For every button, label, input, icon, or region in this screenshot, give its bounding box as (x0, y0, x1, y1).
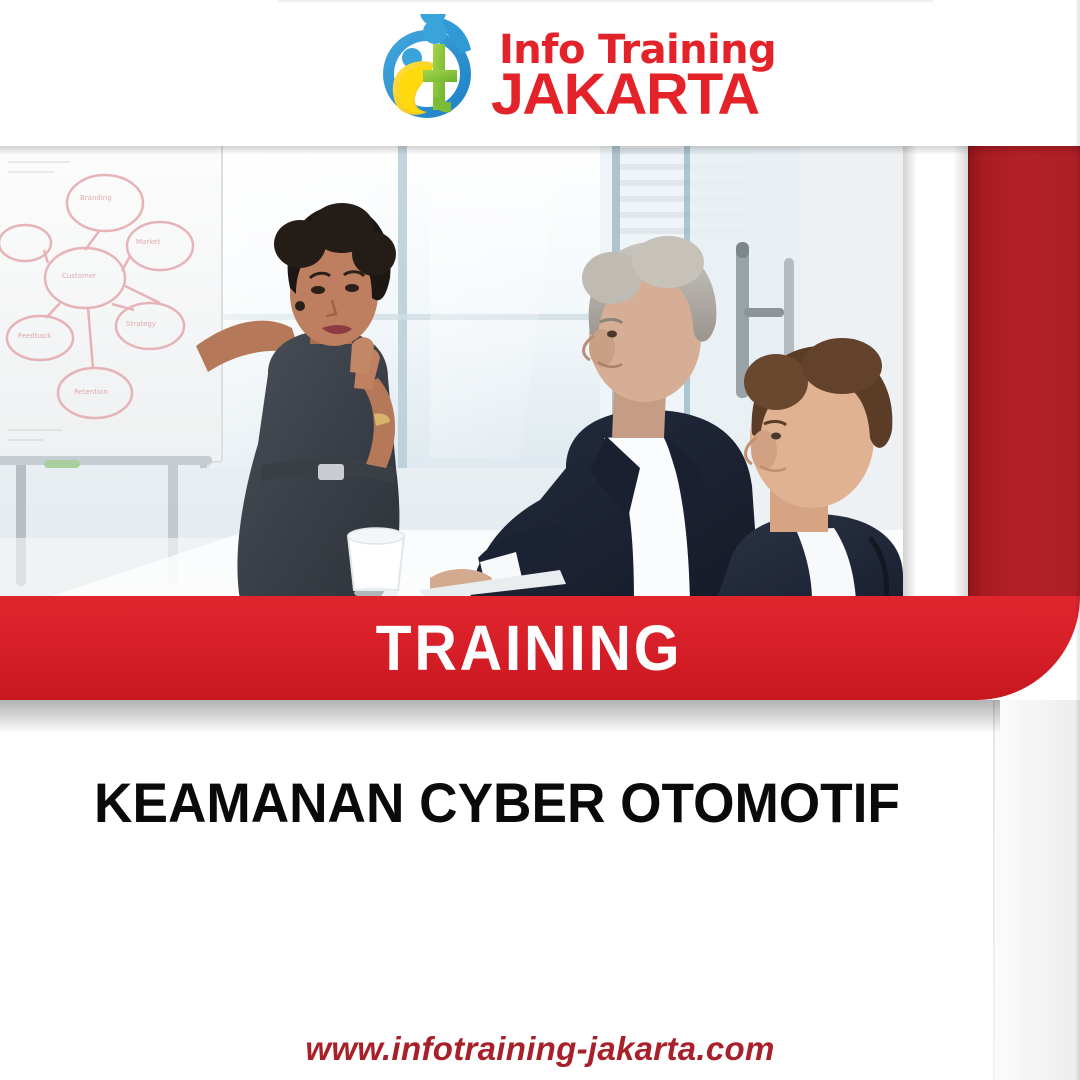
content-panel (0, 700, 994, 1080)
svg-text:Feedback: Feedback (18, 332, 52, 340)
canvas-right-edge (1076, 0, 1080, 1080)
header-top-hairline (278, 0, 933, 3)
hero-photo-right-shadow (903, 138, 917, 600)
band-drop-shadow (0, 700, 1000, 734)
training-band-label: TRAINING (43, 596, 1037, 700)
flyer-canvas: Customer Branding Market Feedback Strate… (0, 0, 1080, 1080)
content-panel-divider (993, 700, 995, 1080)
svg-text:Customer: Customer (62, 272, 96, 280)
brand-line-jakarta: JAKARTA (491, 66, 759, 124)
body-right-fill (995, 700, 1080, 1080)
svg-text:Strategy: Strategy (126, 320, 156, 328)
svg-text:Branding: Branding (80, 194, 112, 202)
website-url[interactable]: www.infotraining-jakarta.com (0, 1030, 1080, 1068)
page-title: KEAMANAN CYBER OTOMOTIF (25, 772, 969, 834)
hero-photo-illustration: Customer Branding Market Feedback Strate… (0, 138, 903, 600)
brand-wordmark: Info Training JAKARTA (491, 16, 721, 130)
right-red-panel-shadow (953, 145, 969, 596)
it-monogram-circle-icon-svg (371, 14, 483, 132)
svg-text:Retention: Retention (74, 388, 108, 396)
hero-photo: Customer Branding Market Feedback Strate… (0, 138, 903, 600)
svg-text:Market: Market (136, 238, 160, 246)
it-monogram-circle-icon (371, 14, 483, 132)
coffee-cup (348, 528, 404, 599)
brand-logo[interactable]: Info Training JAKARTA (371, 12, 721, 134)
